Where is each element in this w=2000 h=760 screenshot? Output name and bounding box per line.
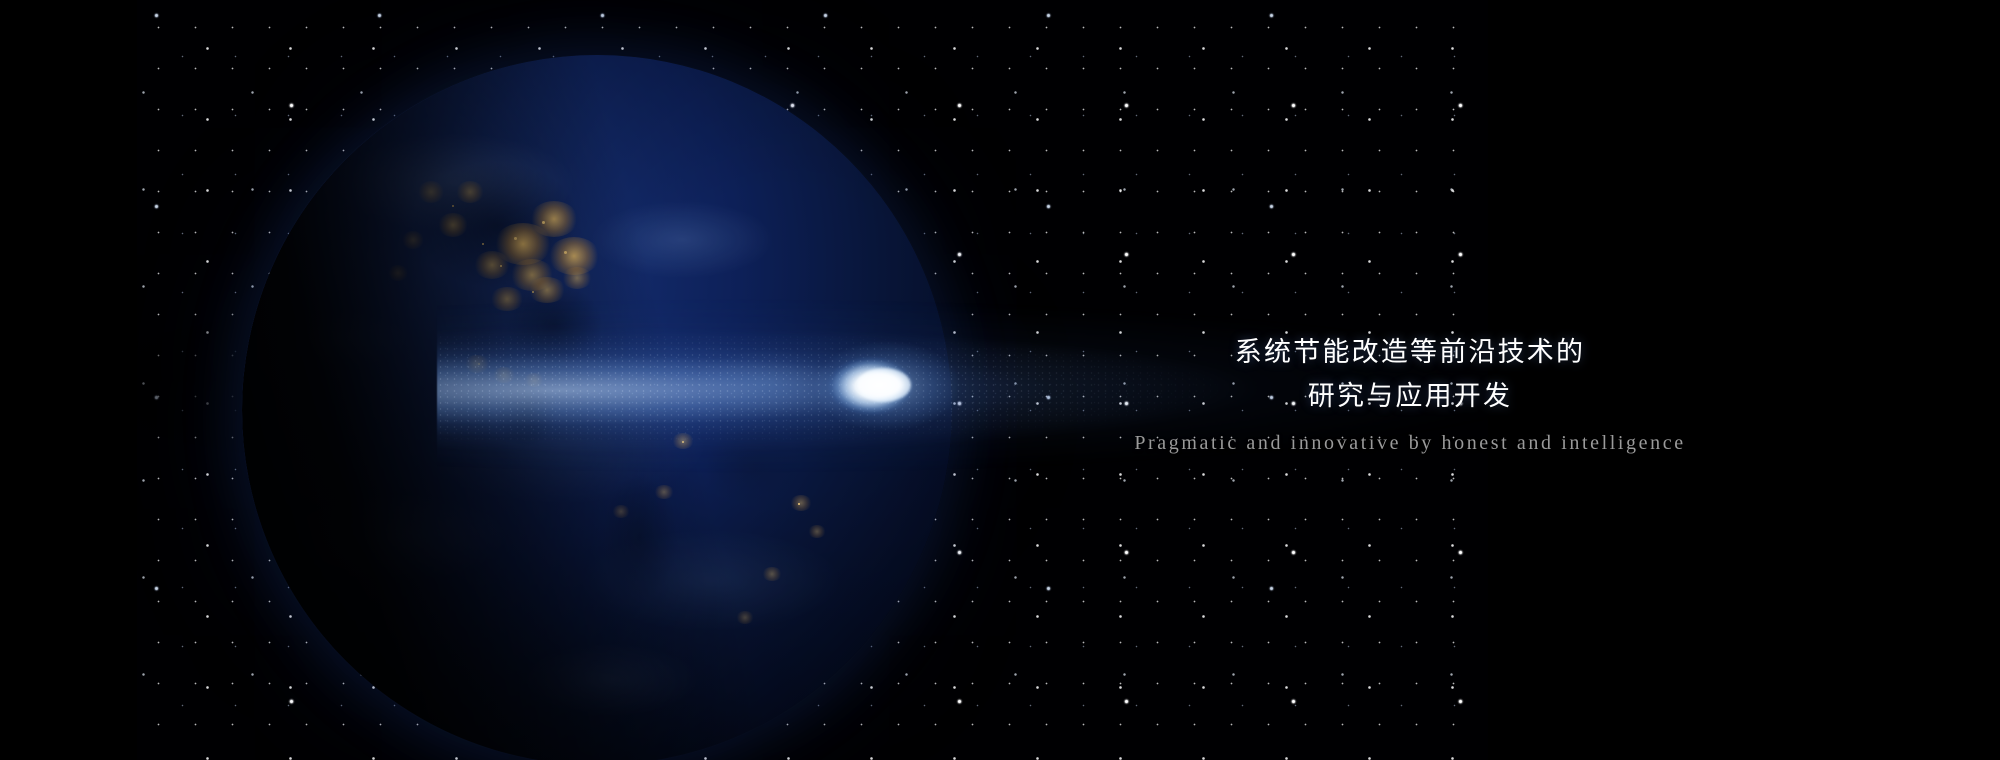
hero-banner: 系统节能改造等前沿技术的 研究与应用开发 Pragmatic and innov…: [0, 0, 2000, 760]
earth-globe: [242, 55, 952, 760]
earth-atmospheric-limb: [242, 55, 952, 760]
letterbox-left-bar: [0, 0, 137, 760]
letterbox-right-bar: [1488, 0, 2000, 760]
earth-limb-mask: [242, 55, 952, 760]
space-scene: [137, 0, 1488, 760]
